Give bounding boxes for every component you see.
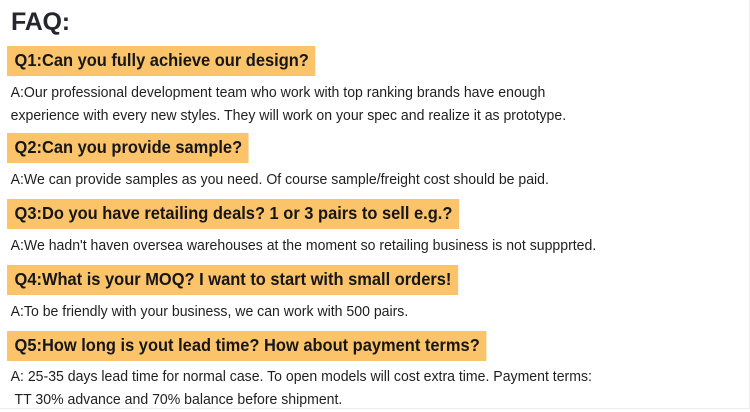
faq-question-2[interactable]: Q2:Can you provide sample? — [7, 133, 249, 163]
faq-question-5[interactable]: Q5:How long is yout lead time? How about… — [7, 331, 486, 361]
faq-answer-1: A:Our professional development team who … — [0, 76, 750, 128]
faq-answer-2: A:We can provide samples as you need. Of… — [0, 163, 750, 192]
faq-list: Q1:Can you fully achieve our design? A:O… — [0, 46, 750, 412]
faq-item-5: Q5:How long is yout lead time? How about… — [0, 331, 750, 412]
faq-item-2: Q2:Can you provide sample? A:We can prov… — [0, 133, 750, 192]
faq-spacer-4 — [0, 324, 750, 331]
faq-item-4: Q4:What is your MOQ? I want to start wit… — [0, 265, 750, 324]
faq-answer-5: A: 25-35 days lead time for normal case.… — [0, 361, 750, 412]
faq-answer-4: A:To be friendly with your business, we … — [0, 295, 750, 324]
faq-spacer-2 — [0, 192, 750, 199]
page-title: FAQ: — [11, 7, 70, 37]
faq-item-1: Q1:Can you fully achieve our design? A:O… — [0, 46, 750, 128]
faq-item-3: Q3:Do you have retailing deals? 1 or 3 p… — [0, 199, 750, 258]
faq-question-3[interactable]: Q3:Do you have retailing deals? 1 or 3 p… — [7, 199, 459, 229]
faq-answer-3: A:We hadn't haven oversea warehouses at … — [0, 229, 750, 258]
faq-page: FAQ: Q1:Can you fully achieve our design… — [0, 0, 750, 409]
faq-question-4[interactable]: Q4:What is your MOQ? I want to start wit… — [7, 265, 458, 295]
faq-question-1[interactable]: Q1:Can you fully achieve our design? — [7, 46, 315, 76]
faq-spacer-3 — [0, 258, 750, 265]
